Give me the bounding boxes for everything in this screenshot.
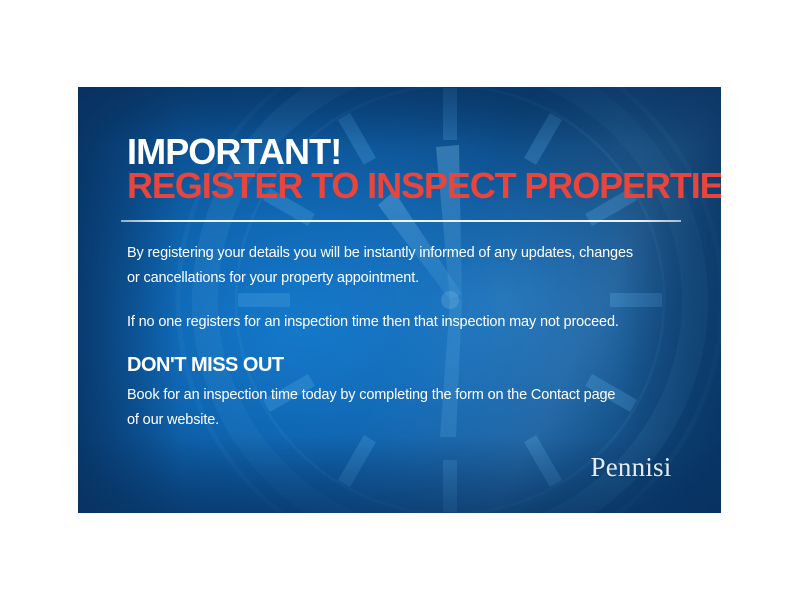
body-paragraph-1-line-2: or cancellations for your property appoi… — [127, 266, 633, 291]
promo-panel: IMPORTANT! REGISTER TO INSPECT PROPERTIE… — [78, 87, 721, 513]
headline-primary: IMPORTANT! — [127, 135, 721, 168]
panel-content: IMPORTANT! REGISTER TO INSPECT PROPERTIE… — [78, 87, 721, 513]
subheading-dont-miss-out: DON'T MISS OUT — [127, 353, 284, 377]
body-paragraph-3-line-2: of our website. — [127, 408, 615, 433]
body-paragraph-2: If no one registers for an inspection ti… — [127, 310, 619, 335]
body-paragraph-3: Book for an inspection time today by com… — [127, 383, 615, 433]
headline-block: IMPORTANT! REGISTER TO INSPECT PROPERTIE… — [127, 135, 721, 204]
body-paragraph-3-line-1: Book for an inspection time today by com… — [127, 383, 615, 408]
body-paragraph-1: By registering your details you will be … — [127, 241, 633, 291]
headline-secondary: REGISTER TO INSPECT PROPERTIES — [127, 168, 721, 204]
headline-divider — [121, 220, 681, 222]
body-paragraph-2-line-1: If no one registers for an inspection ti… — [127, 310, 619, 335]
body-paragraph-1-line-1: By registering your details you will be … — [127, 241, 633, 266]
brand-logo-pennisi: Pennisi — [588, 454, 674, 481]
